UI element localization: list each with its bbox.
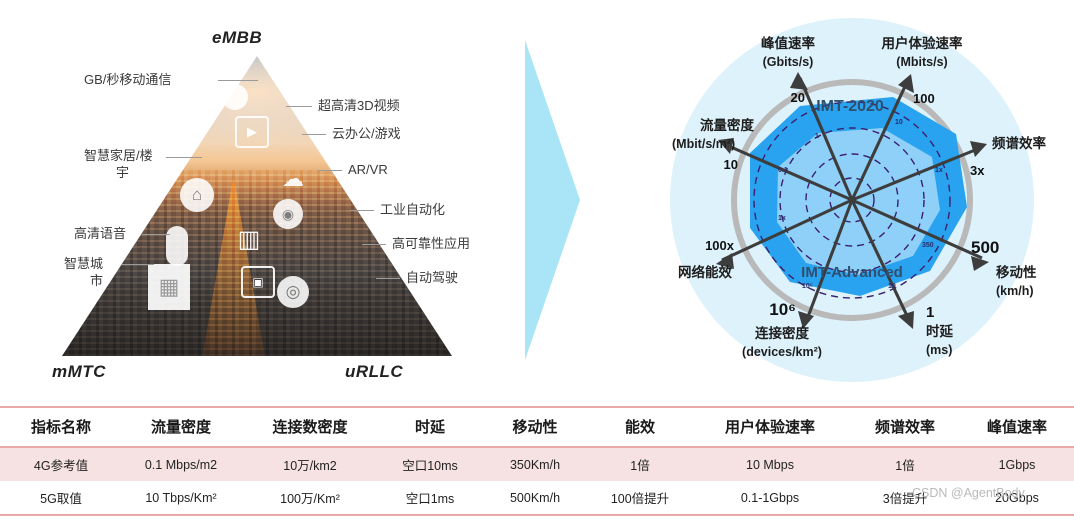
diagram-top-area: eMBB mMTC uRLLC ▶ ⌂ ☁ ◉ ▥ ▣ ◎ ▦ GB/秒移动通信… bbox=[0, 0, 1074, 400]
tick-mobility-outer: 500 bbox=[971, 238, 999, 257]
cell-4g-name: 4G参考值 bbox=[0, 448, 122, 481]
corner-label-urllc: uRLLC bbox=[345, 362, 403, 382]
axis-unit-peak-rate: (Gbits/s) bbox=[763, 55, 814, 69]
axis-title-latency: 时延 bbox=[926, 323, 954, 339]
tag-uhd-3d-video: 超高清3D视频 bbox=[318, 98, 400, 114]
leader-line bbox=[362, 244, 386, 245]
tick-latency-outer: 1 bbox=[926, 304, 934, 321]
axis-unit-user-exp-rate: (Mbits/s) bbox=[896, 55, 947, 69]
axis-title-mobility: 移动性 bbox=[996, 264, 1037, 280]
table-rule-bottom bbox=[0, 514, 1074, 516]
th-latency: 时延 bbox=[380, 408, 480, 446]
cell-4g-conn: 10万/km2 bbox=[240, 448, 380, 481]
tick-latency-inner: 10 bbox=[888, 283, 896, 290]
kpi-table: 指标名称 流量密度 连接数密度 时延 移动性 能效 用户体验速率 频谱效率 峰值… bbox=[0, 408, 1074, 446]
tag-cloud-office-gaming: 云办公/游戏 bbox=[332, 126, 401, 142]
leader-line bbox=[166, 157, 202, 158]
tag-smart-home-2: 宇 bbox=[116, 165, 129, 181]
tag-autonomous-driving: 自动驾驶 bbox=[406, 270, 458, 286]
axis-title-spectral-eff: 频谱效率 bbox=[992, 135, 1046, 151]
cell-5g-peak: 20Gbps bbox=[960, 481, 1074, 514]
leader-line bbox=[350, 210, 374, 211]
th-mobility: 移动性 bbox=[480, 408, 590, 446]
band-label-imt-advanced: IMT-Advanced bbox=[801, 264, 903, 281]
embb-mmtc-urllc-triangle-panel: eMBB mMTC uRLLC ▶ ⌂ ☁ ◉ ▥ ▣ ◎ ▦ GB/秒移动通信… bbox=[0, 0, 520, 400]
tick-conn-density-outer: 10⁶ bbox=[769, 300, 796, 319]
tag-smart-city: 智慧城 bbox=[64, 256, 103, 272]
tick-energy-eff-outer: 100x bbox=[705, 238, 735, 253]
robot-icon: ▣ bbox=[241, 266, 275, 298]
tick-peak-rate-outer: 20 bbox=[791, 90, 805, 105]
leader-line bbox=[122, 264, 154, 265]
cell-5g-energy: 100倍提升 bbox=[590, 481, 690, 514]
mic-icon bbox=[166, 226, 188, 266]
leader-line bbox=[376, 278, 400, 279]
leader-line bbox=[302, 134, 326, 135]
table-header-row: 指标名称 流量密度 连接数密度 时延 移动性 能效 用户体验速率 频谱效率 峰值… bbox=[0, 408, 1074, 446]
cell-5g-mobility: 500Km/h bbox=[480, 481, 590, 514]
5g-capability-radar-chart: 20 100 3x 500 1 10⁶ 100x 10 1 10 1x 350 … bbox=[630, 0, 1074, 400]
axis-title-traffic-density: 流量密度 bbox=[700, 117, 754, 133]
cloud-icon: ☁ bbox=[276, 166, 310, 192]
th-spectral-efficiency: 频谱效率 bbox=[850, 408, 960, 446]
cell-5g-userexp: 0.1-1Gbps bbox=[690, 481, 850, 514]
5g-kpi-table: 指标名称 流量密度 连接数密度 时延 移动性 能效 用户体验速率 频谱效率 峰值… bbox=[0, 406, 1074, 516]
ar-vr-icon: ◉ bbox=[273, 199, 303, 229]
home-icon: ⌂ bbox=[180, 178, 214, 212]
steering-wheel-icon: ◎ bbox=[277, 276, 309, 308]
axis-title-conn-density: 连接密度 bbox=[755, 325, 809, 341]
axis-unit-mobility: (km/h) bbox=[996, 284, 1034, 298]
cell-5g-spectral: 3倍提升 bbox=[850, 481, 960, 514]
th-connection-density: 连接数密度 bbox=[240, 408, 380, 446]
cell-4g-latency: 空口10ms bbox=[380, 448, 480, 481]
cell-5g-conn: 100万/Km² bbox=[240, 481, 380, 514]
cell-5g-traffic: 10 Tbps/Km² bbox=[122, 481, 240, 514]
axis-title-user-exp-rate: 用户体验速率 bbox=[882, 35, 963, 51]
tick-conn-density-inner: 10⁵ bbox=[802, 283, 813, 290]
tick-traffic-density-inner: 0.1 bbox=[778, 167, 788, 174]
tick-spectral-eff-inner: 1x bbox=[935, 167, 943, 174]
cell-4g-mobility: 350Km/h bbox=[480, 448, 590, 481]
tag-gb-mobile: GB/秒移动通信 bbox=[84, 72, 171, 88]
kpi-table-body: 4G参考值 0.1 Mbps/m2 10万/km2 空口10ms 350Km/h… bbox=[0, 448, 1074, 514]
cell-4g-spectral: 1倍 bbox=[850, 448, 960, 481]
th-user-exp-rate: 用户体验速率 bbox=[690, 408, 850, 446]
tag-smart-city-2: 市 bbox=[90, 273, 103, 289]
city-icon: ▦ bbox=[148, 264, 190, 310]
leader-line bbox=[318, 170, 342, 171]
tick-energy-eff-inner: 1x bbox=[778, 215, 786, 222]
tag-industrial-automation: 工业自动化 bbox=[380, 202, 445, 218]
factory-icon: ▥ bbox=[233, 224, 265, 254]
th-energy-efficiency: 能效 bbox=[590, 408, 690, 446]
th-metric-name: 指标名称 bbox=[0, 408, 122, 446]
tick-peak-rate-inner: 1 bbox=[815, 133, 819, 140]
tag-high-reliability: 高可靠性应用 bbox=[392, 236, 470, 252]
table-row: 4G参考值 0.1 Mbps/m2 10万/km2 空口10ms 350Km/h… bbox=[0, 448, 1074, 481]
tick-mobility-inner: 350 bbox=[922, 242, 934, 249]
axis-unit-conn-density: (devices/km²) bbox=[742, 345, 822, 359]
leader-line bbox=[218, 80, 258, 81]
corner-label-mmtc: mMTC bbox=[52, 362, 106, 382]
cell-5g-name: 5G取值 bbox=[0, 481, 122, 514]
tag-smart-home: 智慧家居/楼 bbox=[84, 148, 153, 164]
cell-4g-peak: 1Gbps bbox=[960, 448, 1074, 481]
cell-4g-userexp: 10 Mbps bbox=[690, 448, 850, 481]
cell-4g-traffic: 0.1 Mbps/m2 bbox=[122, 448, 240, 481]
axis-unit-latency: (ms) bbox=[926, 343, 952, 357]
th-traffic-density: 流量密度 bbox=[122, 408, 240, 446]
band-label-imt-2020: IMT-2020 bbox=[816, 98, 884, 115]
leader-line bbox=[286, 106, 312, 107]
table-row: 5G取值 10 Tbps/Km² 100万/Km² 空口1ms 500Km/h … bbox=[0, 481, 1074, 514]
signal-bubble-icon bbox=[222, 84, 248, 110]
tick-spectral-eff-outer: 3x bbox=[970, 163, 985, 178]
video-icon: ▶ bbox=[235, 116, 269, 148]
transition-arrow bbox=[525, 40, 580, 360]
corner-label-embb: eMBB bbox=[212, 28, 262, 48]
leader-line bbox=[142, 234, 170, 235]
tag-ar-vr: AR/VR bbox=[348, 162, 388, 178]
tag-hd-voice: 高清语音 bbox=[74, 226, 126, 242]
tick-user-exp-inner: 10 bbox=[895, 119, 903, 126]
axis-title-peak-rate: 峰值速率 bbox=[761, 35, 815, 51]
cell-5g-latency: 空口1ms bbox=[380, 481, 480, 514]
axis-unit-traffic-density: (Mbit/s/m²) bbox=[672, 137, 735, 151]
tick-user-exp-outer: 100 bbox=[913, 91, 935, 106]
axis-title-energy-eff: 网络能效 bbox=[678, 264, 732, 280]
cell-4g-energy: 1倍 bbox=[590, 448, 690, 481]
th-peak-rate: 峰值速率 bbox=[960, 408, 1074, 446]
tick-traffic-density-outer: 10 bbox=[724, 157, 738, 172]
